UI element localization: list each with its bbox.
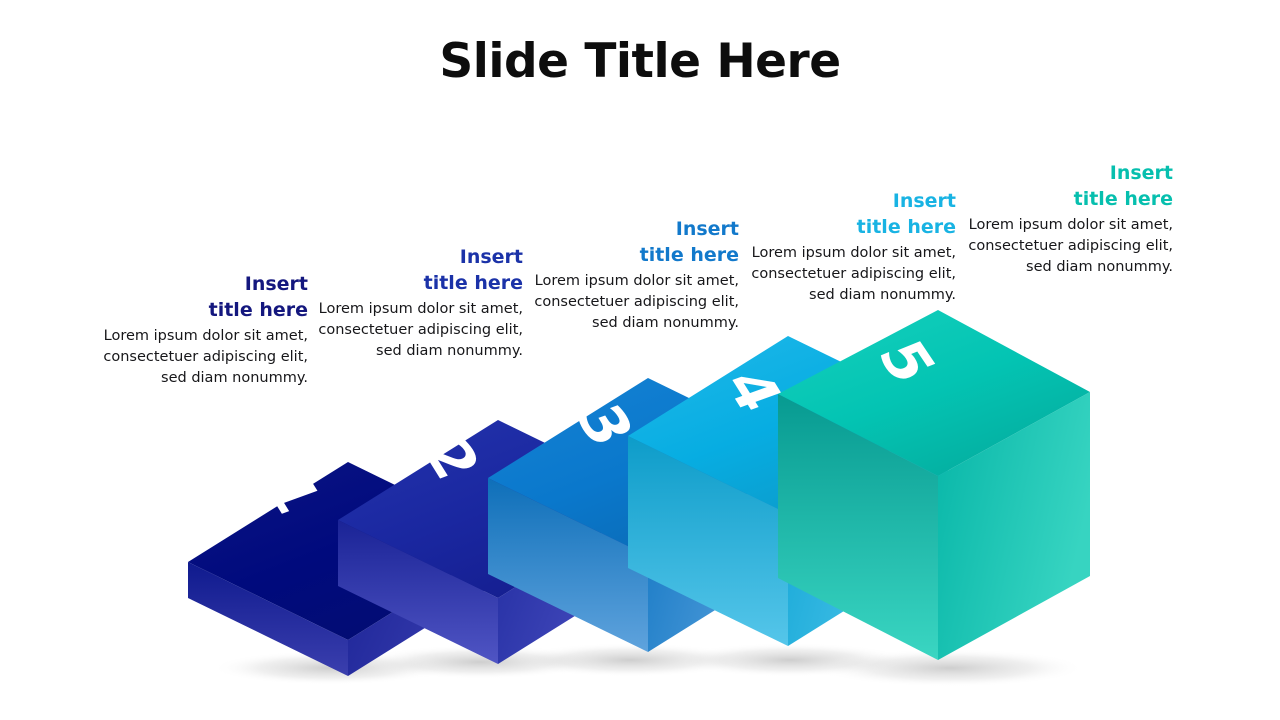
callout-4-body: Lorem ipsum dolor sit amet, consectetuer… [740,243,956,305]
block-3[interactable]: 3 [488,378,808,652]
callout-2-title-line1: Insert [460,246,523,268]
slide-canvas: Slide Title Here [0,0,1280,720]
block-shadows [212,643,1085,687]
callout-2-title-line2: title here [424,272,523,294]
callout-5-title-line1: Insert [1110,162,1173,184]
callout-2-body: Lorem ipsum dolor sit amet, consectetuer… [307,299,523,361]
callout-4-title: Insert title here [740,188,956,240]
callout-4[interactable]: Insert title here Lorem ipsum dolor sit … [740,188,956,305]
callout-5-body: Lorem ipsum dolor sit amet, consectetuer… [957,215,1173,277]
callout-1-title-line2: title here [209,299,308,321]
callout-3-title-line2: title here [640,244,739,266]
callout-1-title-line1: Insert [245,273,308,295]
callout-1-body: Lorem ipsum dolor sit amet, consectetuer… [92,326,308,388]
callout-2-title: Insert title here [307,244,523,296]
callout-4-title-line1: Insert [893,190,956,212]
block-4[interactable]: 4 [628,336,948,646]
callout-4-title-line2: title here [857,216,956,238]
callout-1-title: Insert title here [92,271,308,323]
callout-2[interactable]: Insert title here Lorem ipsum dolor sit … [307,244,523,361]
callout-3-title: Insert title here [523,216,739,268]
block-number-1: 1 [249,464,335,522]
callout-3[interactable]: Insert title here Lorem ipsum dolor sit … [523,216,739,333]
callout-5-title: Insert title here [957,160,1173,212]
page-title: Slide Title Here [0,36,1280,88]
callout-5[interactable]: Insert title here Lorem ipsum dolor sit … [957,160,1173,277]
block-1[interactable]: 1 [188,462,508,676]
block-5[interactable]: 5 [778,310,1090,660]
block-number-3: 3 [562,396,648,454]
block-number-2: 2 [408,430,494,488]
callout-5-title-line2: title here [1074,188,1173,210]
callout-3-title-line1: Insert [676,218,739,240]
callout-1[interactable]: Insert title here Lorem ipsum dolor sit … [92,271,308,388]
block-number-5: 5 [863,332,949,391]
callout-3-body: Lorem ipsum dolor sit amet, consectetuer… [523,271,739,333]
block-2[interactable]: 2 [338,420,658,664]
block-number-4: 4 [710,362,796,420]
